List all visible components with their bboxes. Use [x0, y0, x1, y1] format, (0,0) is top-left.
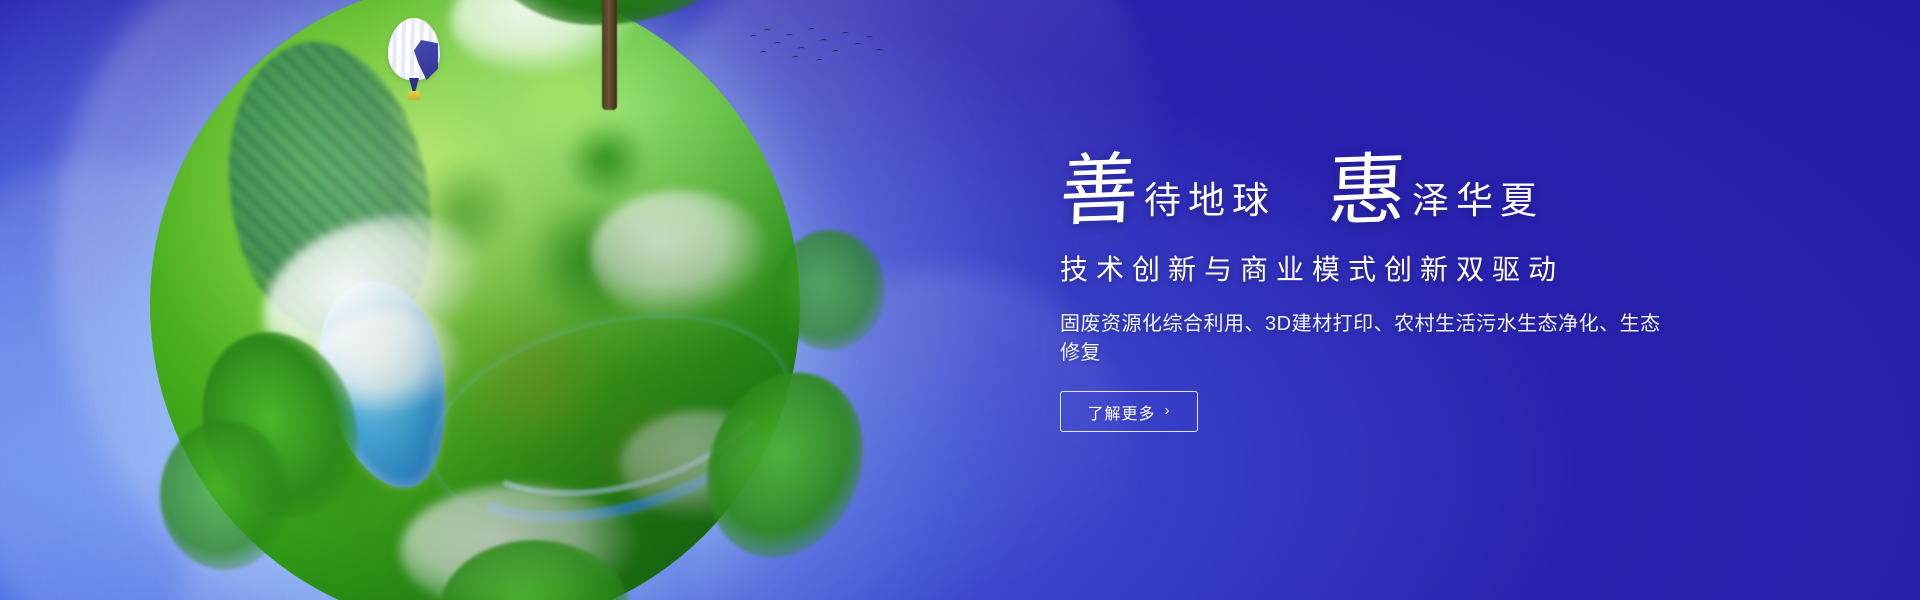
tree-icon	[680, 349, 890, 581]
globe-cloud	[242, 188, 507, 402]
river	[412, 284, 800, 555]
banner-copy: 善 待地球 惠 泽华夏 技术创新与商业模式创新双驱动 固废资源化综合利用、3D建…	[1060, 120, 1680, 432]
chevron-right-icon: ›	[1165, 403, 1171, 418]
headline-small-text-2: 泽华夏	[1412, 183, 1544, 220]
globe-sphere	[150, 0, 800, 600]
globe-cloud	[450, 0, 640, 76]
mountain-ridge	[187, 18, 470, 365]
headline-small-text-1: 待地球	[1144, 183, 1276, 220]
sky-glow	[0, 0, 1060, 600]
subtitle-primary: 技术创新与商业模式创新双驱动	[1060, 248, 1680, 288]
green-planet-illustration	[150, 0, 800, 600]
tree-icon	[775, 230, 885, 350]
headline-phrase-1: 善 待地球	[1060, 152, 1276, 230]
river-highlight	[433, 273, 797, 527]
globe-cloud	[620, 410, 790, 520]
cloud-streak	[157, 339, 824, 600]
headline-big-char-2: 惠	[1327, 151, 1408, 232]
subtitle-secondary: 固废资源化综合利用、3D建材打印、农村生活污水生态净化、生态修复	[1060, 307, 1680, 365]
headline-phrase-2: 惠 泽华夏	[1328, 152, 1544, 230]
hot-air-balloon-icon	[388, 18, 440, 108]
tree-icon	[160, 420, 290, 570]
learn-more-button[interactable]: 了解更多 ›	[1060, 391, 1198, 432]
headline-big-char-1: 善	[1059, 151, 1140, 232]
headline: 善 待地球 惠 泽华夏	[1060, 120, 1680, 230]
cloud-streak	[0, 78, 501, 600]
tree-icon	[480, 0, 740, 100]
hero-banner: 善 待地球 惠 泽华夏 技术创新与商业模式创新双驱动 固废资源化综合利用、3D建…	[0, 0, 1920, 600]
tree-icon	[177, 310, 383, 540]
globe-cloud	[315, 310, 465, 415]
learn-more-label: 了解更多	[1087, 400, 1155, 424]
bird-flock-icon	[746, 25, 886, 75]
tree-icon	[440, 540, 630, 600]
globe-cloud	[590, 190, 770, 320]
globe-cloud	[400, 485, 640, 600]
globe-terrain	[150, 0, 800, 600]
lake	[308, 271, 463, 499]
cloud-streak	[0, 0, 706, 600]
